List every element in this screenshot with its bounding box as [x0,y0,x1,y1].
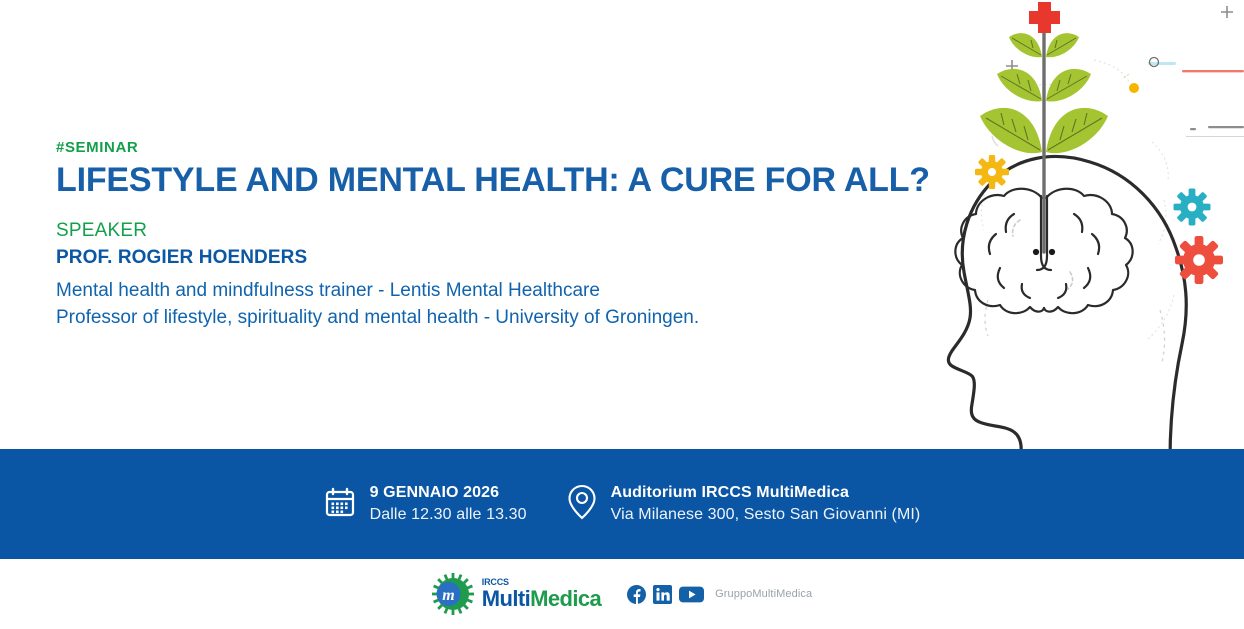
red-cross-icon [1029,2,1060,33]
event-details-band: 9 GENNAIO 2026 Dalle 12.30 alle 13.30 Au… [0,449,1244,559]
event-venue-name: Auditorium IRCCS MultiMedica [611,482,921,504]
kicker-seminar: #SEMINAR [56,140,996,155]
seminar-poster: #SEMINAR LIFESTYLE AND MENTAL HEALTH: A … [0,0,1244,629]
multimedica-starburst-logo: m [432,573,474,615]
logo-name-part2: Medica [530,586,601,611]
linkedin-icon[interactable] [653,585,672,604]
event-venue-block: Auditorium IRCCS MultiMedica Via Milanes… [567,482,921,525]
footer: m IRCCS MultiMedica [0,559,1244,629]
multimedica-logo: m IRCCS MultiMedica [432,573,601,615]
speaker-role-line-1: Mental health and mindfulness trainer - … [56,278,996,305]
event-date-block: 9 GENNAIO 2026 Dalle 12.30 alle 13.30 [324,482,527,525]
logo-name: MultiMedica [482,588,601,610]
yellow-dot [1124,74,1139,93]
calendar-icon [324,486,356,523]
logo-monogram: m [442,587,454,604]
speaker-label: SPEAKER [56,221,996,242]
youtube-icon[interactable] [679,585,704,604]
gray-circle-outline [1150,58,1159,67]
social-links: GruppoMultiMedica [627,585,812,604]
red-gear-icon [1175,236,1223,284]
growing-plant [980,25,1108,252]
page-title: LIFESTYLE AND MENTAL HEALTH: A CURE FOR … [56,163,996,199]
event-date: 9 GENNAIO 2026 [370,482,527,504]
event-venue-address: Via Milanese 300, Sesto San Giovanni (MI… [611,504,921,526]
coral-dash [1182,70,1244,137]
teal-gear-icon [1174,189,1211,226]
speaker-name: PROF. ROGIER HOENDERS [56,248,996,269]
logo-name-part1: Multi [482,586,530,611]
facebook-icon[interactable] [627,585,646,604]
logo-wordmark: IRCCS MultiMedica [482,578,601,610]
lightblue-dash [1148,62,1176,65]
event-time: Dalle 12.30 alle 13.30 [370,504,527,526]
speaker-role-line-2: Professor of lifestyle, spirituality and… [56,305,996,332]
social-handle: GruppoMultiMedica [715,588,812,600]
location-pin-icon [567,484,597,525]
poster-text-block: #SEMINAR LIFESTYLE AND MENTAL HEALTH: A … [56,140,996,332]
gray-plus-mark [1006,6,1233,72]
